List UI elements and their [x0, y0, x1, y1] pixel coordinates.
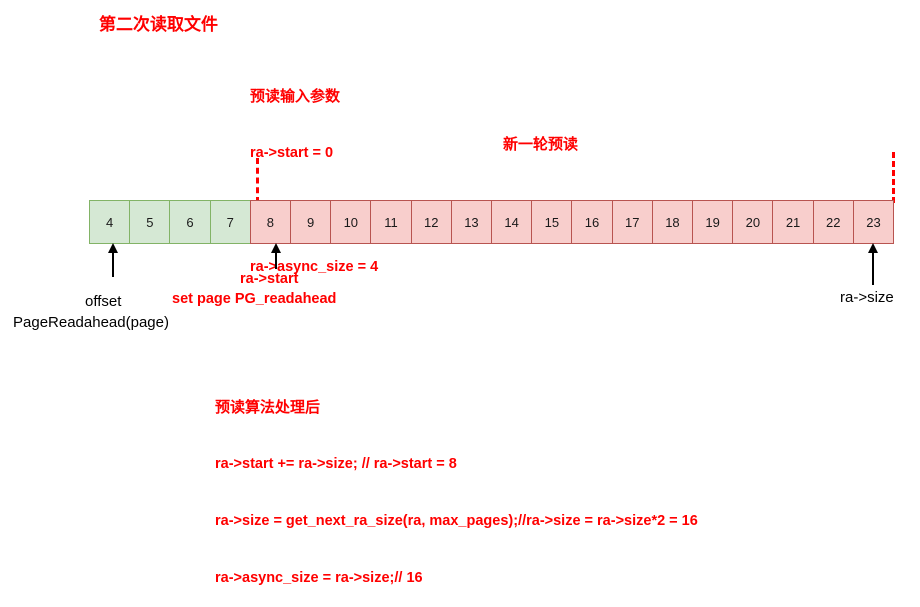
arrow-offset	[106, 243, 120, 277]
page-cell-15: 15	[531, 200, 571, 244]
page-cell-18: 18	[652, 200, 692, 244]
page-cache-grid: 4567891011121314151617181920212223	[89, 200, 894, 244]
bottom-line-size: ra->size = get_next_ra_size(ra, max_page…	[215, 512, 698, 531]
page-cell-6: 6	[169, 200, 209, 244]
page-cell-14: 14	[491, 200, 531, 244]
page-cell-12: 12	[411, 200, 451, 244]
arrow-ra-start	[269, 243, 283, 269]
page-cell-10: 10	[330, 200, 370, 244]
bottom-line-async-size: ra->async_size = ra->size;// 16	[215, 569, 698, 588]
readahead-algorithm-result: 预读算法处理后 ra->start += ra->size; // ra->st…	[215, 360, 698, 607]
page-cell-17: 17	[612, 200, 652, 244]
arrow-ra-size	[866, 243, 880, 285]
arrow-shaft	[112, 251, 114, 277]
params-heading: 预读输入参数	[250, 87, 378, 106]
label-set-page-pg-readahead: set page PG_readahead	[172, 290, 336, 309]
page-cell-7: 7	[210, 200, 250, 244]
arrow-shaft	[275, 251, 277, 269]
page-cell-20: 20	[732, 200, 772, 244]
label-ra-start: ra->start	[240, 270, 298, 289]
page-title: 第二次读取文件	[99, 10, 218, 35]
page-cell-23: 23	[853, 200, 894, 244]
page-cell-22: 22	[813, 200, 853, 244]
params-line-start: ra->start = 0	[250, 144, 378, 163]
page-cell-16: 16	[571, 200, 611, 244]
label-ra-size: ra->size	[840, 288, 894, 307]
page-cell-21: 21	[772, 200, 812, 244]
dashed-marker-ra-end	[892, 152, 895, 203]
bottom-line-start: ra->start += ra->size; // ra->start = 8	[215, 455, 698, 474]
page-cell-9: 9	[290, 200, 330, 244]
arrow-shaft	[872, 251, 874, 285]
page-cell-19: 19	[692, 200, 732, 244]
new-round-label: 新一轮预读	[503, 135, 578, 154]
page-cell-8: 8	[250, 200, 290, 244]
page-cell-13: 13	[451, 200, 491, 244]
page-cell-5: 5	[129, 200, 169, 244]
page-cell-11: 11	[370, 200, 410, 244]
label-offset: offset	[85, 292, 121, 311]
bottom-heading: 预读算法处理后	[215, 398, 698, 417]
dashed-marker-ra-start	[256, 158, 259, 203]
label-page-readahead: PageReadahead(page)	[13, 313, 169, 332]
page-cell-4: 4	[89, 200, 129, 244]
